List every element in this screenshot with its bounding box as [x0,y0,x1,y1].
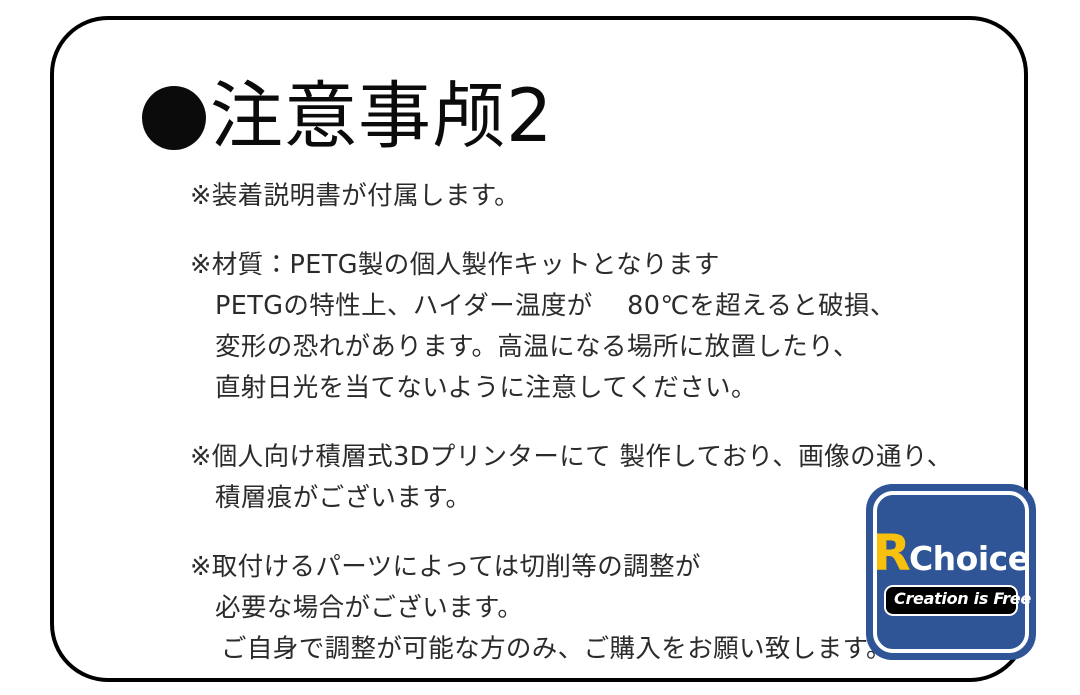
logo-brand-text: Choice [909,545,1030,573]
notice-line: 変形の恐れがあります。高温になる場所に放置したり、 [190,327,1020,368]
bullet-icon [142,86,206,150]
notice-line: PETGの特性上、ハイダー温度が 80℃を超えると破損、 [190,286,1020,327]
notice-line: ※材質：PETG製の個人製作キットとなります [190,245,1020,286]
logo-r-mark: R [872,532,909,575]
notice-line: 直射日光を当てないように注意してください。 [190,368,1020,409]
notice-line: ※装着説明書が付属します。 [190,176,1020,217]
notice-card: 注意事颅2 ※装着説明書が付属します。※材質：PETG製の個人製作キットとなりま… [50,16,1028,682]
brand-logo: R Choice Creation is Free [866,484,1036,660]
page-title: 注意事颅2 [142,68,553,164]
notice-paragraph: ※材質：PETG製の個人製作キットとなりますPETGの特性上、ハイダー温度が 8… [190,245,1020,409]
notice-paragraph: ※装着説明書が付属します。 [190,176,1020,217]
logo-tagline-bar: Creation is Free [884,585,1018,616]
logo-tagline-text: Creation is Free [894,589,1031,608]
page-title-text: 注意事颅2 [210,80,553,153]
logo-inner-frame: R Choice Creation is Free [873,491,1029,653]
notice-line: ※個人向け積層式3Dプリンターにて 製作しており、画像の通り、 [190,437,1020,478]
logo-wordmark: R Choice [872,532,1029,575]
